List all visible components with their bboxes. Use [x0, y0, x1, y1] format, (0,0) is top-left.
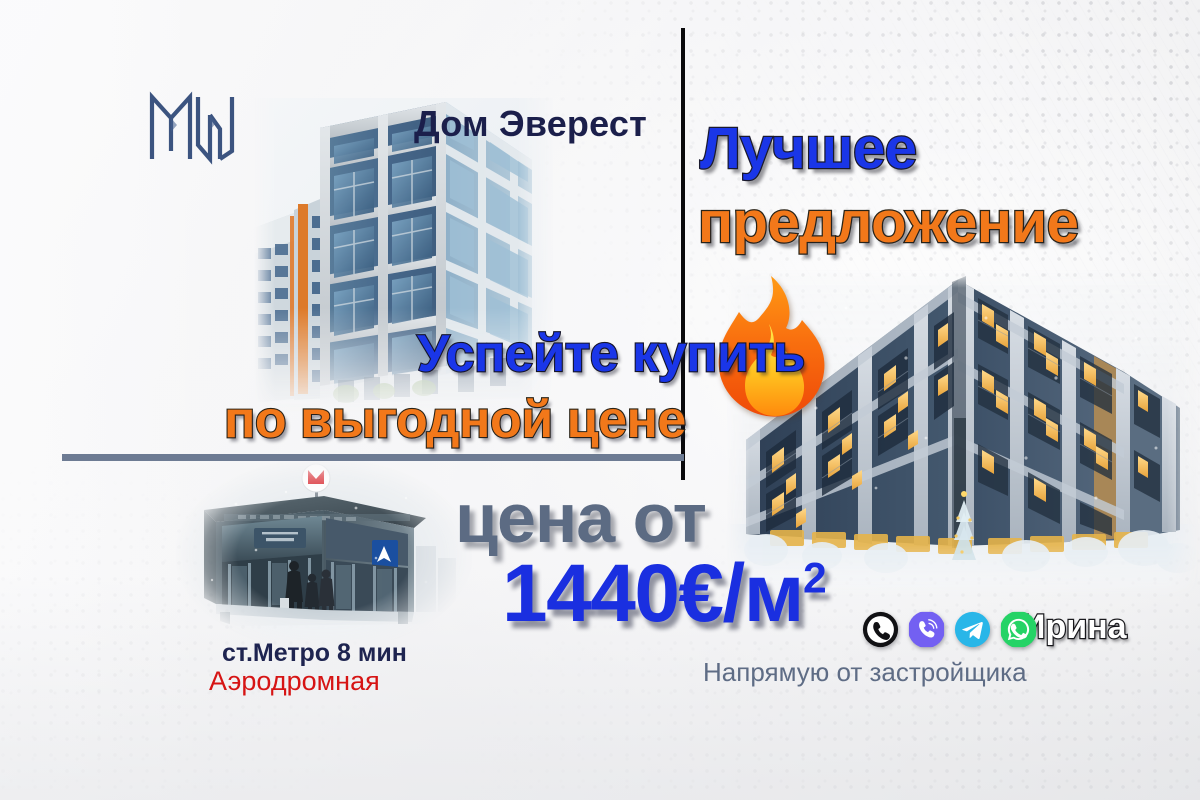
price-amount: 1440€/м	[502, 548, 803, 639]
developer-note: Напрямую от застройщика	[703, 659, 1027, 685]
subheadline-line-2: по выгодной цене	[224, 394, 686, 446]
headline-line-2: предложение	[698, 194, 1078, 252]
price-value: 1440€/м2	[502, 553, 825, 635]
phone-icon[interactable]	[862, 611, 899, 648]
mw-monogram-logo	[146, 85, 244, 165]
price-label: цена от	[455, 483, 706, 553]
metro-station-name: Аэродромная	[209, 668, 380, 695]
whatsapp-icon[interactable]	[1000, 611, 1037, 648]
subheadline-line-1: Успейте купить	[417, 328, 805, 380]
metro-entrance-photo	[176, 462, 472, 640]
project-name: Дом Эверест	[414, 106, 647, 142]
transit-distance-label: ст.Метро 8 мин	[222, 641, 407, 666]
headline-line-1: Лучшее	[700, 120, 916, 178]
viber-icon[interactable]	[908, 611, 945, 648]
contact-channels	[862, 611, 1037, 648]
advertisement-banner: Дом Эверест Лучшее предложение Успейте к…	[0, 0, 1200, 800]
telegram-icon[interactable]	[954, 611, 991, 648]
price-exponent: 2	[803, 555, 825, 603]
horizontal-divider-rule	[62, 454, 684, 461]
